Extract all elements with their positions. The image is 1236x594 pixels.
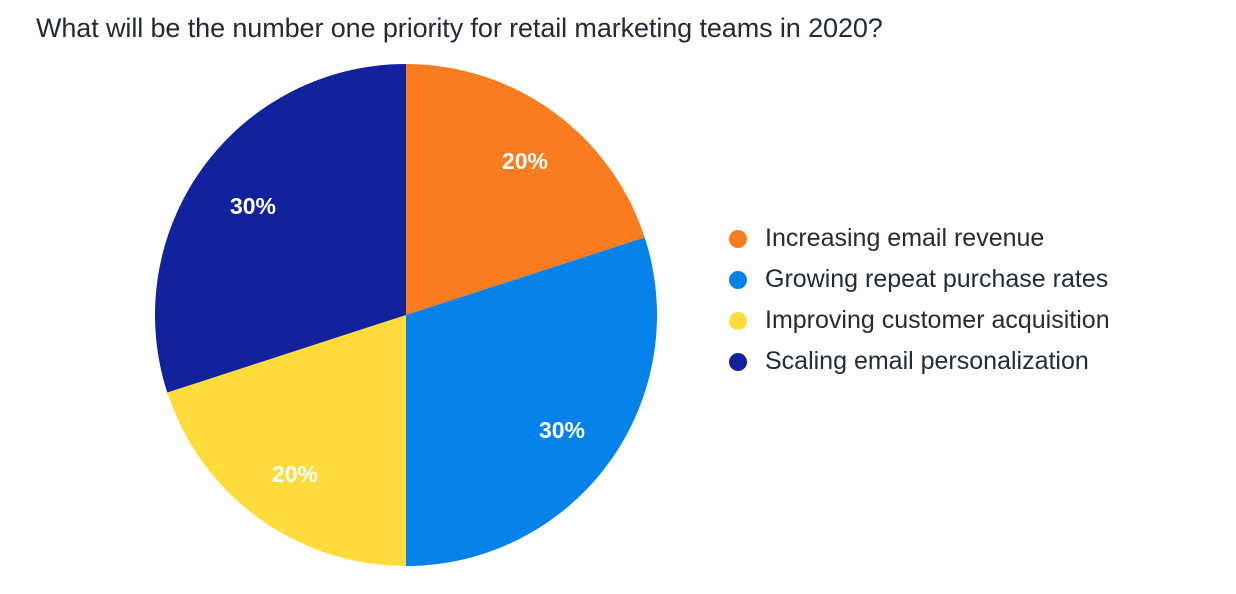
legend-swatch-icon — [729, 271, 747, 289]
legend-item-label: Growing repeat purchase rates — [765, 267, 1108, 292]
pie-slice-label: 30% — [539, 417, 585, 443]
legend-item-label: Improving customer acquisition — [765, 308, 1110, 333]
pie-slice-label: 30% — [230, 193, 276, 219]
legend-swatch-icon — [729, 312, 747, 330]
legend-item-label: Increasing email revenue — [765, 226, 1044, 251]
pie-chart: 20%30%20%30% — [0, 0, 720, 594]
legend-item[interactable]: Growing repeat purchase rates — [729, 259, 1209, 300]
pie-slice-label: 20% — [502, 148, 548, 174]
chart-legend: Increasing email revenueGrowing repeat p… — [729, 218, 1209, 382]
legend-swatch-icon — [729, 353, 747, 371]
legend-item[interactable]: Increasing email revenue — [729, 218, 1209, 259]
pie-chart-svg: 20%30%20%30% — [0, 0, 720, 594]
legend-item[interactable]: Scaling email personalization — [729, 341, 1209, 382]
pie-slice-label: 20% — [272, 461, 318, 487]
legend-item-label: Scaling email personalization — [765, 349, 1089, 374]
legend-item[interactable]: Improving customer acquisition — [729, 300, 1209, 341]
legend-swatch-icon — [729, 230, 747, 248]
pie-slice-group — [155, 64, 657, 566]
